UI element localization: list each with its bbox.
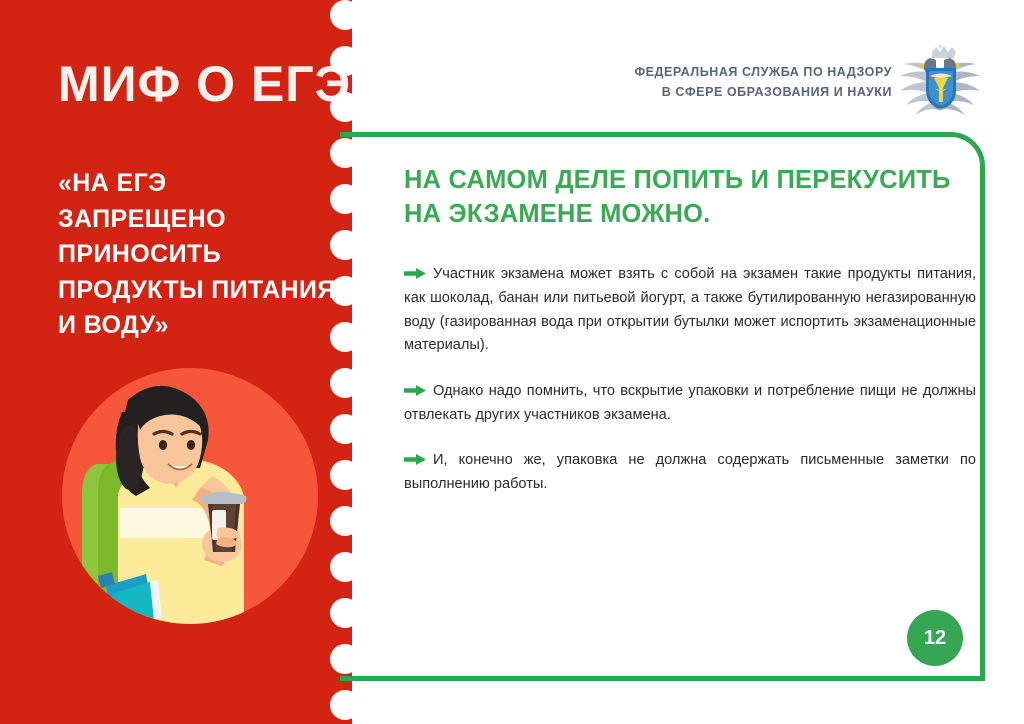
- arrow-right-icon: [404, 381, 426, 392]
- myth-title: МИФ О ЕГЭ: [58, 58, 348, 111]
- myth-quote: «НА ЕГЭ ЗАПРЕЩЕНО ПРИНОСИТЬ ПРОДУКТЫ ПИТ…: [58, 166, 338, 344]
- bullet-item: Участник экзамена может взять с собой на…: [404, 263, 976, 358]
- org-line-2: В СФЕРЕ ОБРАЗОВАНИЯ И НАУКИ: [592, 82, 892, 102]
- illustration-circle: [62, 368, 318, 624]
- bullet-text: Однако надо помнить, что вскрытие упаков…: [404, 383, 976, 423]
- org-line-1: ФЕДЕРАЛЬНАЯ СЛУЖБА ПО НАДЗОРУ: [592, 62, 892, 82]
- arrow-right-icon: [404, 450, 426, 461]
- bullet-item: И, конечно же, упаковка не должна содерж…: [404, 449, 976, 496]
- arrow-right-icon: [404, 264, 426, 275]
- fact-heading: НА САМОМ ДЕЛЕ ПОПИТЬ И ПЕРЕКУСИТЬ НА ЭКЗ…: [404, 164, 976, 231]
- bullet-text: Участник экзамена может взять с собой на…: [404, 266, 976, 353]
- page-number-badge: 12: [907, 610, 963, 666]
- perforated-edge: [330, 0, 364, 724]
- student-with-coffee-illustration: [62, 368, 318, 624]
- bullet-text: И, конечно же, упаковка не должна содерж…: [404, 452, 976, 492]
- student-figure-icon: [62, 368, 318, 624]
- slide-root: МИФ О ЕГЭ «НА ЕГЭ ЗАПРЕЩЕНО ПРИНОСИТЬ ПР…: [0, 0, 1024, 724]
- main-content: НА САМОМ ДЕЛЕ ПОПИТЬ И ПЕРЕКУСИТЬ НА ЭКЗ…: [404, 164, 976, 496]
- organization-name: ФЕДЕРАЛЬНАЯ СЛУЖБА ПО НАДЗОРУ В СФЕРЕ ОБ…: [592, 62, 892, 103]
- rosobrnadzor-emblem-icon: [894, 44, 986, 116]
- bullet-item: Однако надо помнить, что вскрытие упаков…: [404, 380, 976, 427]
